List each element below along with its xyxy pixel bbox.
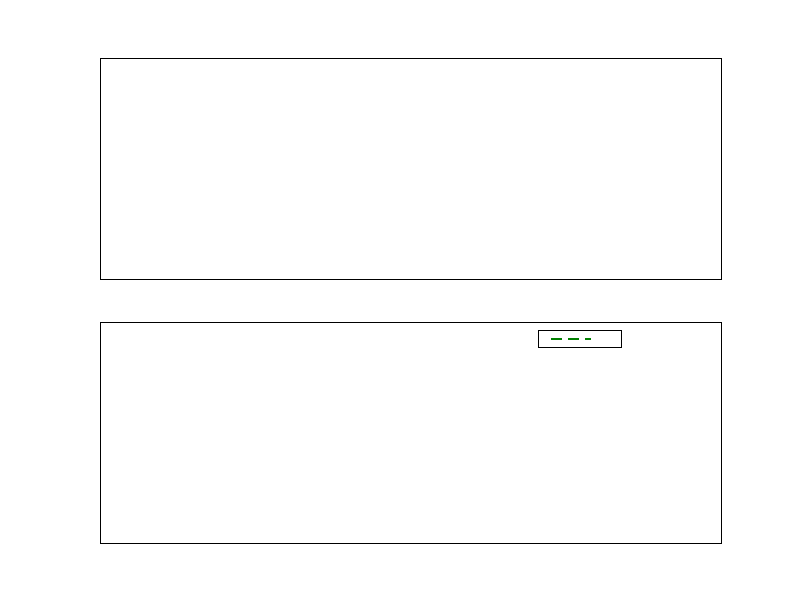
bottom-panel-cumulative — [100, 322, 722, 544]
figure-canvas — [0, 0, 800, 600]
cumulative-plot-area — [101, 323, 721, 543]
histogram-plot-area — [101, 59, 721, 279]
legend — [538, 330, 622, 348]
top-panel-histogram — [100, 58, 722, 280]
mag-limit-line-icon — [551, 338, 591, 340]
